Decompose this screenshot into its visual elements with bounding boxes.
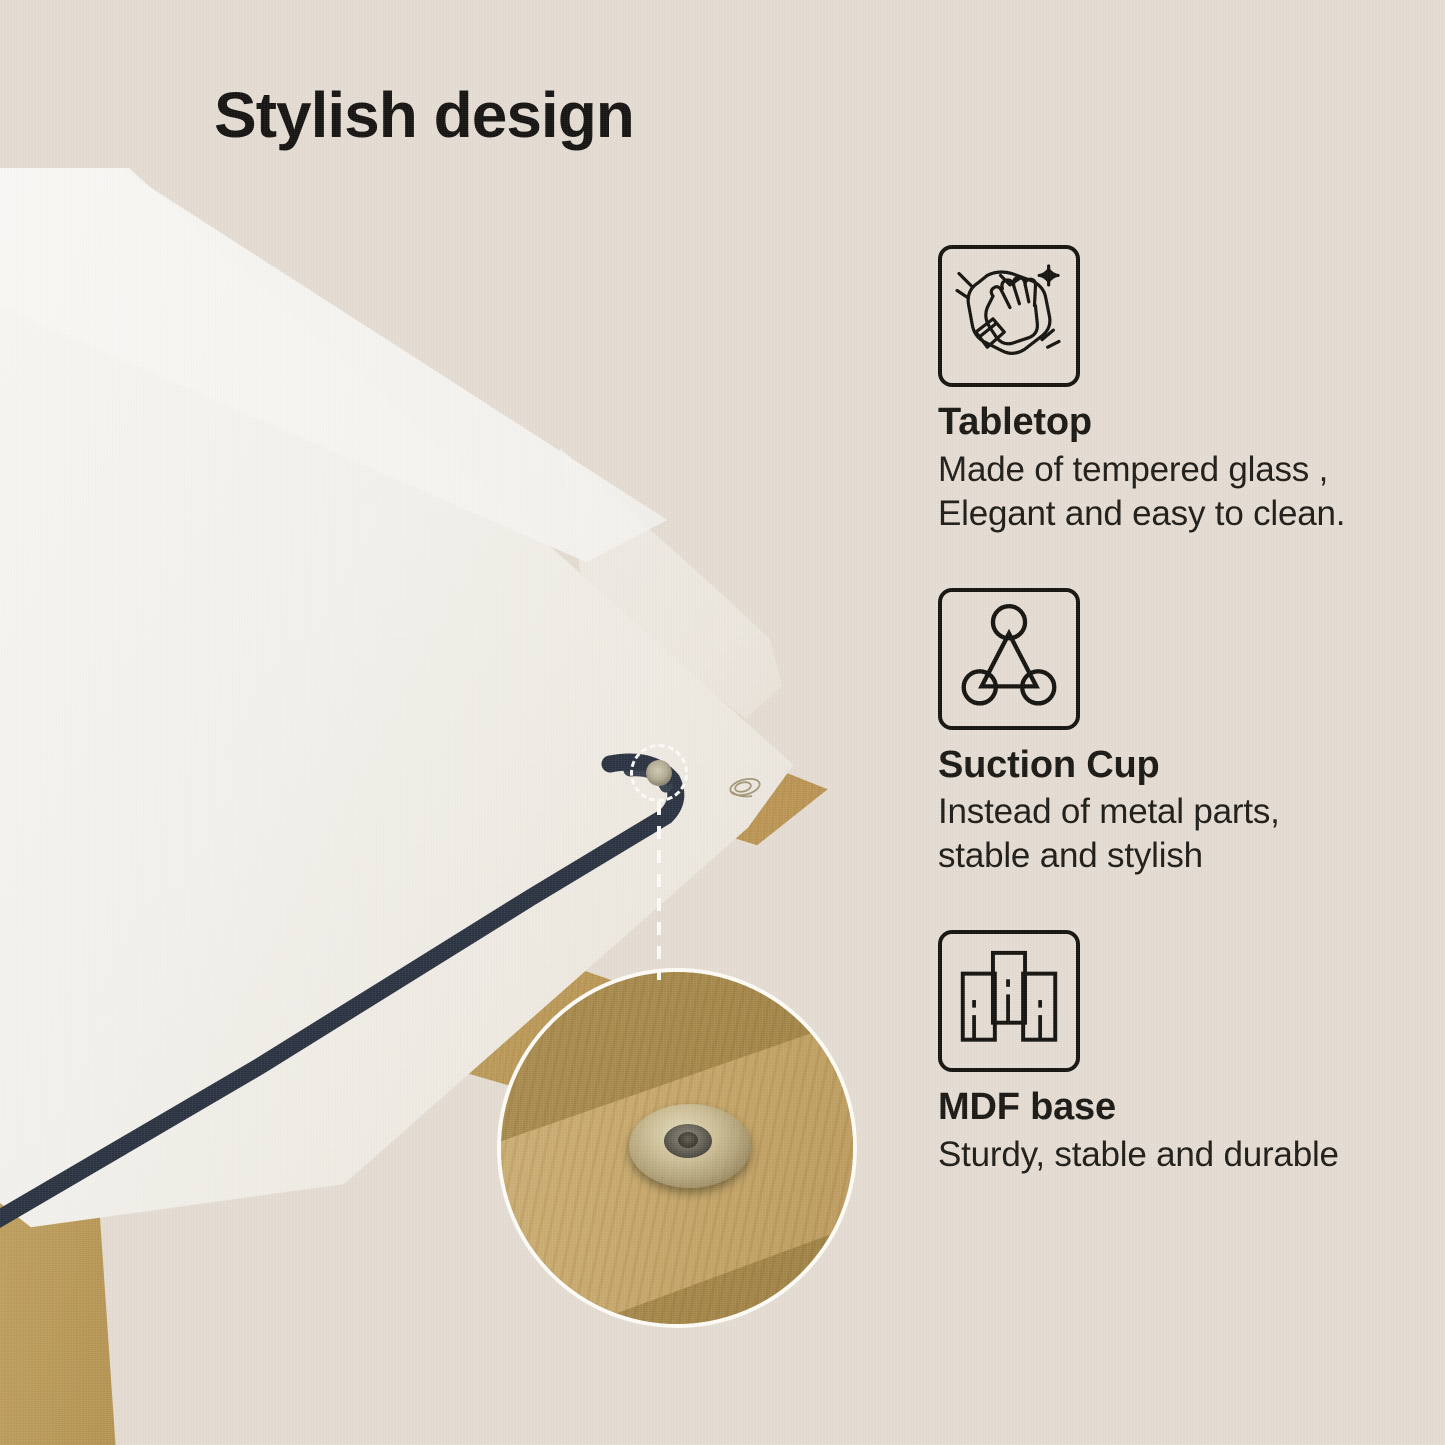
- feature-description: Made of tempered glass , Elegant and eas…: [938, 448, 1408, 536]
- triangle-three-circles-icon: [938, 588, 1080, 730]
- three-panel-boards-icon: [938, 930, 1080, 1072]
- feature-description: Sturdy, stable and durable: [938, 1133, 1408, 1177]
- suction-cup-on-table: [646, 760, 672, 786]
- wipe-cloth-hand-icon: [938, 245, 1080, 387]
- suction-cup-magnifier: [497, 968, 857, 1328]
- feature-title: Tabletop: [938, 401, 1408, 444]
- page-title: Stylish design: [214, 78, 634, 152]
- infographic-canvas: Stylish design: [0, 0, 1445, 1445]
- feature-list: Tabletop Made of tempered glass , Elegan…: [938, 245, 1408, 1177]
- brand-logo-engraving: [724, 774, 766, 802]
- feature-item-tabletop: Tabletop Made of tempered glass , Elegan…: [938, 245, 1408, 536]
- feature-title: Suction Cup: [938, 744, 1408, 787]
- magnifier-suction-cup-screw: [678, 1132, 698, 1148]
- feature-description: Instead of metal parts, stable and styli…: [938, 790, 1408, 878]
- feature-title: MDF base: [938, 1086, 1408, 1129]
- callout-leader-line: [657, 802, 661, 980]
- feature-item-suction-cup: Suction Cup Instead of metal parts, stab…: [938, 588, 1408, 879]
- feature-item-mdf-base: MDF base Sturdy, stable and durable: [938, 930, 1408, 1177]
- product-photo: [0, 168, 880, 1445]
